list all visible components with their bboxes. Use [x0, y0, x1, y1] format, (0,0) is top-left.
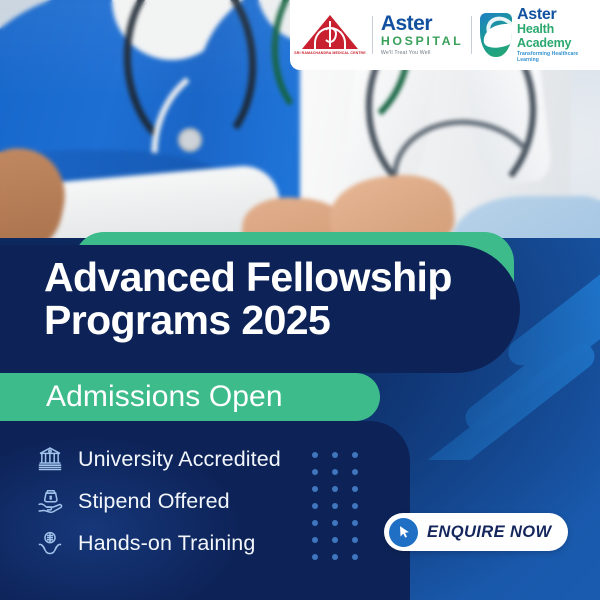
- feature-list: University Accredited Stipend Offered: [36, 440, 336, 562]
- source-logo: SRI RAMACHANDRA MEDICAL CENTRE: [296, 15, 364, 55]
- logo-divider-2: [471, 16, 472, 54]
- promo-creative: SRI RAMACHANDRA MEDICAL CENTRE Aster HOS…: [0, 0, 600, 600]
- academy-subtitle: Health Academy: [517, 23, 592, 49]
- enquire-now-label: ENQUIRE NOW: [427, 523, 551, 542]
- aster-hospital-logo: Aster HOSPITAL We'll Treat You Well: [381, 14, 464, 55]
- logo-bar: SRI RAMACHANDRA MEDICAL CENTRE Aster HOS…: [290, 0, 600, 70]
- enquire-now-button[interactable]: ENQUIRE NOW: [384, 513, 568, 551]
- aster-hospital-name: Aster: [381, 14, 464, 35]
- shield-hand-icon: [480, 13, 512, 57]
- university-building-icon: [36, 445, 64, 473]
- logo-divider-1: [372, 16, 373, 54]
- admissions-open-text: Admissions Open: [46, 379, 283, 414]
- academy-tagline: Transforming Healthcare Learning: [517, 51, 592, 63]
- aster-hospital-subtitle: HOSPITAL: [381, 35, 464, 49]
- academy-name: Aster: [517, 7, 592, 23]
- headline-line-2: Programs 2025: [44, 299, 514, 342]
- source-logo-caption: SRI RAMACHANDRA MEDICAL CENTRE: [294, 51, 365, 55]
- list-item: University Accredited: [36, 440, 336, 478]
- list-item: Hands-on Training: [36, 524, 336, 562]
- feature-label: Hands-on Training: [78, 531, 255, 556]
- list-item: Stipend Offered: [36, 482, 336, 520]
- aster-hospital-tagline: We'll Treat You Well: [381, 50, 464, 56]
- headline-line-1: Advanced Fellowship: [44, 254, 452, 300]
- cursor-arrow-icon: [389, 518, 418, 547]
- caduceus-triangle-icon: [302, 15, 358, 49]
- aster-health-academy-logo: Aster Health Academy Transforming Health…: [480, 7, 592, 62]
- feature-label: Stipend Offered: [78, 489, 230, 514]
- feature-label: University Accredited: [78, 447, 281, 472]
- caring-hands-icon: [36, 529, 64, 557]
- page-title: Advanced Fellowship Programs 2025: [44, 256, 514, 343]
- hand-money-icon: [36, 487, 64, 515]
